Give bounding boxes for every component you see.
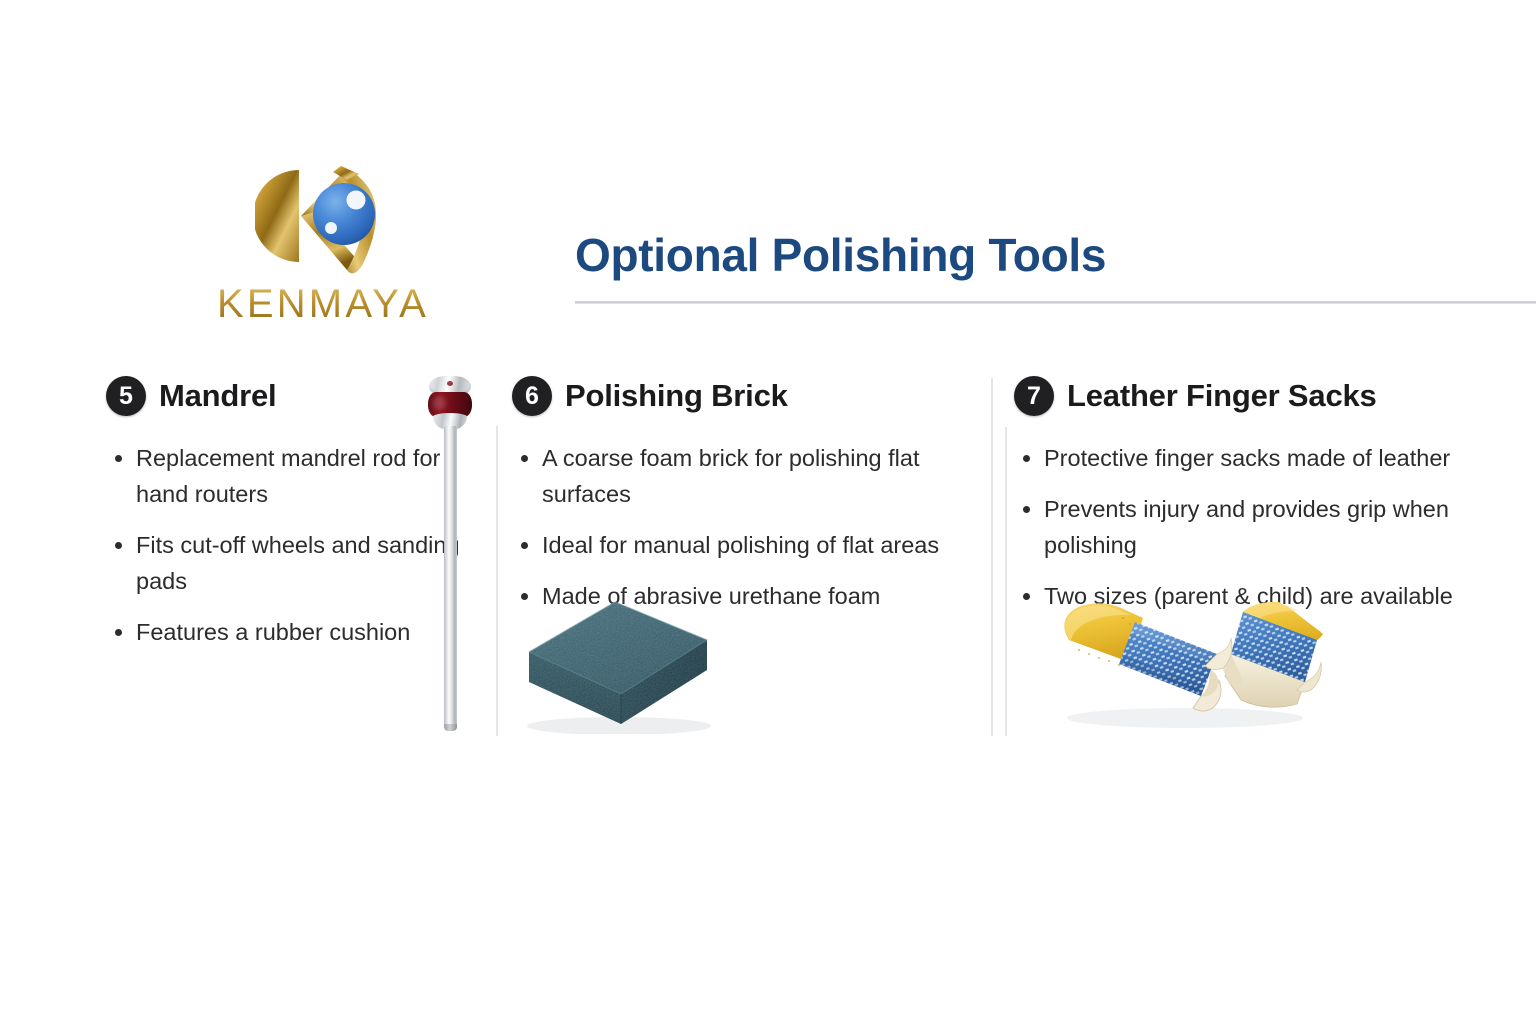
column-header: 6 Polishing Brick xyxy=(512,372,982,420)
list-item: Protective finger sacks made of leather xyxy=(1014,440,1514,476)
list-item: Prevents injury and provides grip when p… xyxy=(1014,491,1514,563)
finger-sack-front xyxy=(1064,603,1235,711)
list-item: A coarse foam brick for polishing flat s… xyxy=(512,440,982,512)
list-item: Features a rubber cushion xyxy=(106,614,466,650)
list-item: Ideal for manual polishing of flat areas xyxy=(512,527,982,563)
column-title: Leather Finger Sacks xyxy=(1067,378,1377,414)
bullet-list: A coarse foam brick for polishing flat s… xyxy=(512,440,982,614)
bullet-list: Replacement mandrel rod for hand routers… xyxy=(106,440,466,650)
mandrel-shaft xyxy=(444,426,457,730)
slide-canvas: KENMAYA Optional Polishing Tools 5 Mandr… xyxy=(0,0,1536,1024)
column-divider-3 xyxy=(1005,427,1007,736)
column-header: 7 Leather Finger Sacks xyxy=(1014,372,1514,420)
mandrel-rod-image xyxy=(420,376,480,732)
brand-logo: KENMAYA xyxy=(193,152,453,332)
feature-column-polishing-brick: 6 Polishing Brick A coarse foam brick fo… xyxy=(512,372,982,614)
mandrel-shaft-tip xyxy=(444,724,457,731)
kenmaya-k-sphere-logo-icon xyxy=(255,152,407,280)
feature-column-mandrel: 5 Mandrel Replacement mandrel rod for ha… xyxy=(106,372,466,650)
feature-column-leather-finger-sacks: 7 Leather Finger Sacks Protective finger… xyxy=(1014,372,1514,614)
column-divider-2 xyxy=(991,378,993,736)
mandrel-cap-marking xyxy=(447,381,453,386)
number-badge: 6 xyxy=(512,376,552,416)
page-title: Optional Polishing Tools xyxy=(575,228,1106,282)
number-badge: 5 xyxy=(106,376,146,416)
column-title: Polishing Brick xyxy=(565,378,788,414)
mandrel-cushion-highlight xyxy=(433,396,446,410)
polishing-brick-image xyxy=(503,594,733,734)
list-item: Fits cut-off wheels and sanding pads xyxy=(106,527,466,599)
column-header: 5 Mandrel xyxy=(106,372,466,420)
number-badge: 7 xyxy=(1014,376,1054,416)
title-divider xyxy=(575,301,1536,304)
finger-sack-back xyxy=(1215,602,1335,707)
list-item: Replacement mandrel rod for hand routers xyxy=(106,440,466,512)
column-title: Mandrel xyxy=(159,378,276,414)
leather-finger-sacks-image xyxy=(1035,584,1345,734)
column-divider-1 xyxy=(496,426,498,736)
brand-wordmark: KENMAYA xyxy=(193,282,453,327)
